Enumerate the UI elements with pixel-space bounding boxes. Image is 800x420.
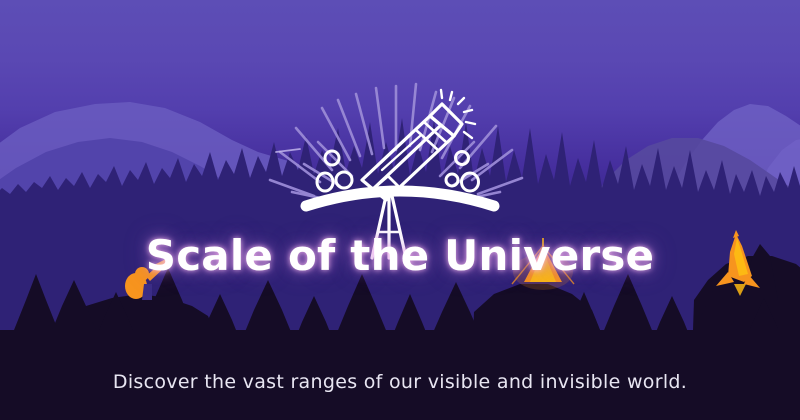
page-subtitle: Discover the vast ranges of our visible … [113, 371, 687, 393]
bubble-icon [317, 151, 479, 191]
banner-hero: Scale of the Universe Discover the vast … [0, 0, 800, 420]
page-title-container: Scale of the Universe [0, 206, 800, 306]
shooting-star-icon [276, 149, 300, 152]
page-subtitle-container: Discover the vast ranges of our visible … [0, 352, 800, 412]
hill-arc [306, 191, 494, 206]
light-rays-icon [270, 84, 522, 200]
page-title: Scale of the Universe [146, 234, 655, 278]
